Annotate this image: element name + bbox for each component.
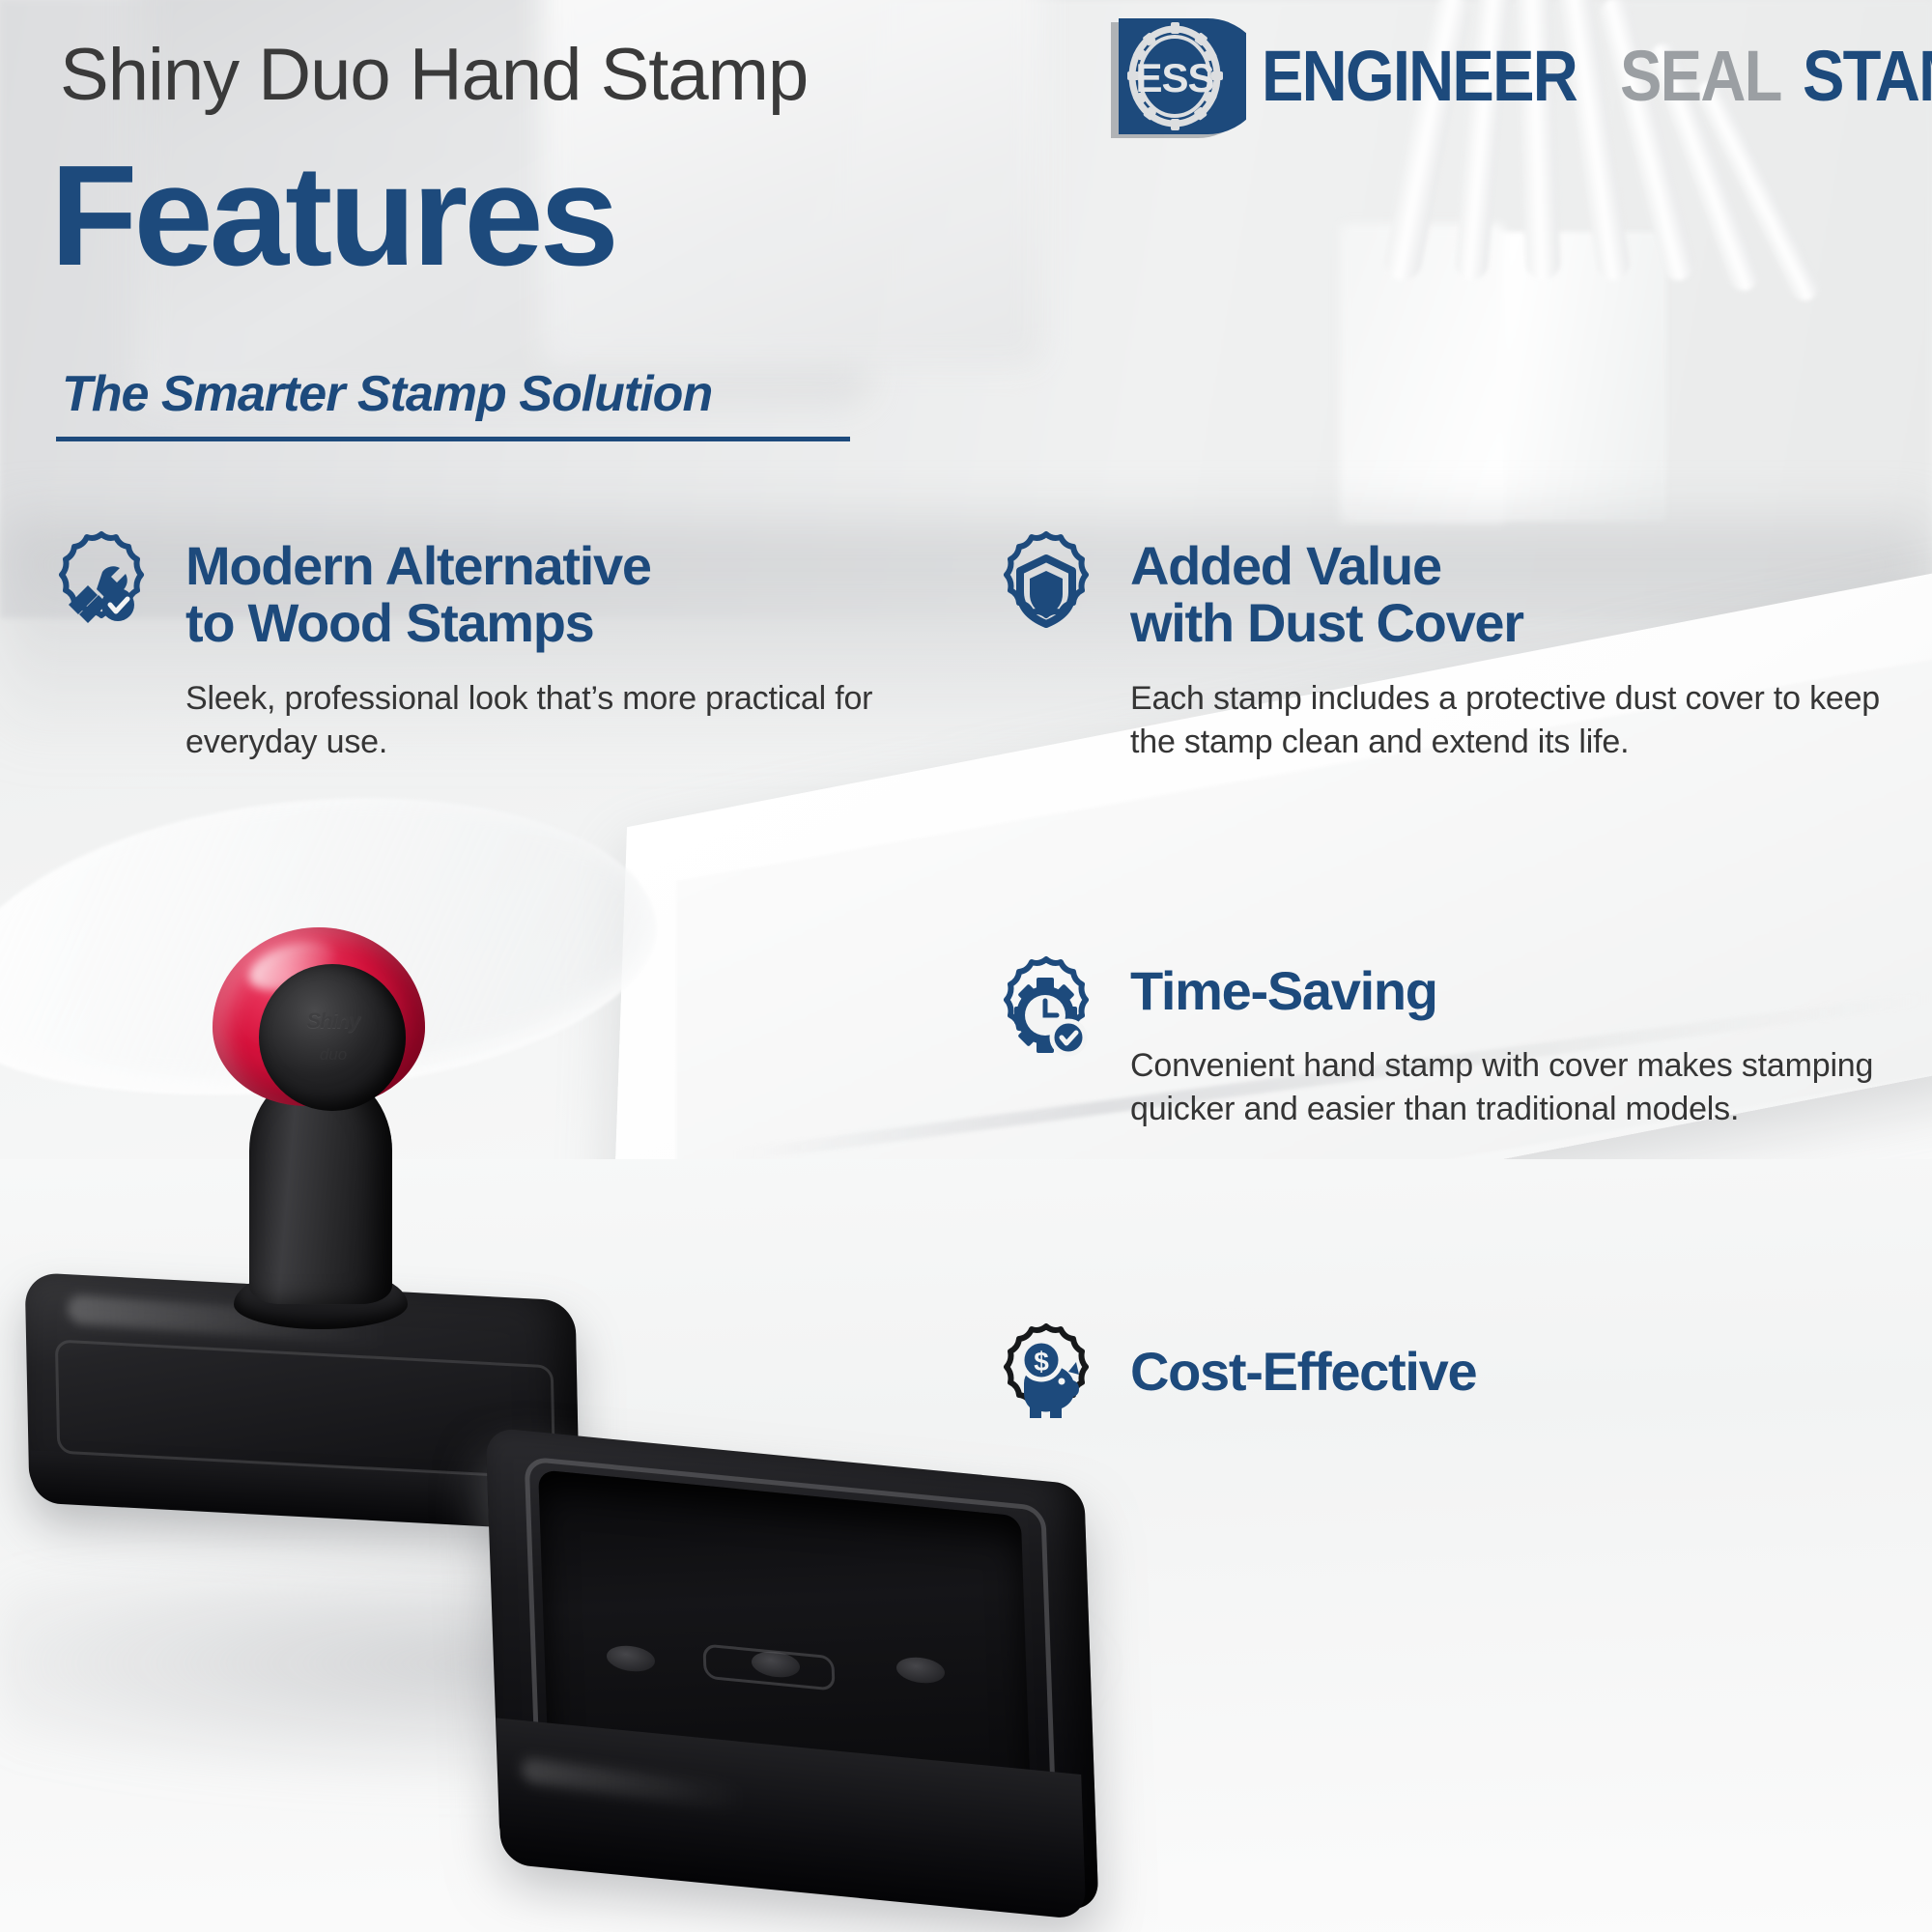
infographic-canvas: Shiny Duo Hand Stamp xyxy=(0,0,1932,1932)
feature-heading-line2: to Wood Stamps xyxy=(185,592,594,653)
product-photo-dust-cover xyxy=(493,1457,1121,1920)
feature-heading-line1: Modern Alternative xyxy=(185,535,651,596)
page-title: Shiny Duo Hand Stamp xyxy=(60,33,808,117)
ess-shield-icon: ESS xyxy=(1111,14,1246,138)
stamp-end-cap xyxy=(259,964,406,1111)
feature-card-added-value: Added Value with Dust Cover Each stamp i… xyxy=(987,529,1886,763)
feature-body: Sleek, professional look that’s more pra… xyxy=(185,677,931,764)
stamp-wrench-check-badge-icon xyxy=(43,529,160,651)
feature-heading-line1: Added Value xyxy=(1130,535,1441,596)
feature-text-block: Modern Alternative to Wood Stamps Sleek,… xyxy=(185,529,931,763)
feature-text-block: Cost-Effective xyxy=(1130,1321,1886,1400)
feature-body: Each stamp includes a protective dust co… xyxy=(1130,677,1886,764)
logo-word-stamps: STAMPS xyxy=(1803,41,1932,112)
stamp-model-mark: duo xyxy=(299,1045,367,1065)
gear-clock-check-badge-icon xyxy=(987,954,1105,1076)
feature-heading: Time-Saving xyxy=(1130,962,1886,1019)
feature-heading: Added Value with Dust Cover xyxy=(1130,537,1886,652)
feature-heading: Cost-Effective xyxy=(1130,1343,1886,1400)
stamp-brand-mark: Shiny xyxy=(286,1009,381,1034)
logo-word-seal: SEAL xyxy=(1620,41,1781,112)
feature-text-block: Time-Saving Convenient hand stamp with c… xyxy=(1130,954,1886,1131)
feature-card-cost-effective: $ Cost-Effective xyxy=(987,1321,1886,1443)
feature-body: Convenient hand stamp with cover makes s… xyxy=(1130,1044,1886,1131)
feature-heading: Modern Alternative to Wood Stamps xyxy=(185,537,931,652)
feature-card-modern-alternative: Modern Alternative to Wood Stamps Sleek,… xyxy=(43,529,931,763)
logo-word-engineer: ENGINEER xyxy=(1262,41,1577,112)
shield-badge-icon xyxy=(987,529,1105,651)
feature-text-block: Added Value with Dust Cover Each stamp i… xyxy=(1130,529,1886,763)
piggy-bank-badge-icon: $ xyxy=(987,1321,1105,1443)
svg-text:$: $ xyxy=(1034,1347,1049,1377)
feature-heading-line2: with Dust Cover xyxy=(1130,592,1523,653)
brand-logo[interactable]: ESS ENGINEER SEAL STAMPS .COM xyxy=(1111,14,1932,139)
svg-text:ESS: ESS xyxy=(1135,55,1213,100)
feature-card-time-saving: Time-Saving Convenient hand stamp with c… xyxy=(987,954,1886,1131)
features-heading: Features xyxy=(50,145,615,288)
subtitle-divider xyxy=(56,437,850,441)
brand-wordmark: ENGINEER SEAL STAMPS .COM xyxy=(1262,28,1932,125)
features-subtitle: The Smarter Stamp Solution xyxy=(62,365,712,423)
